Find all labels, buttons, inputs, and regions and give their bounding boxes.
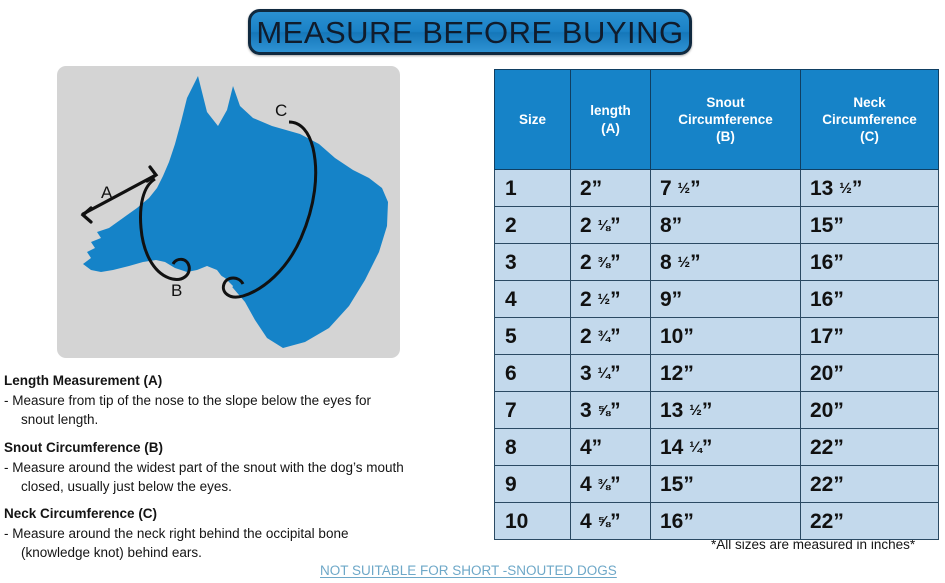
instruction-body-snout: - Measure around the widest part of the …	[4, 458, 490, 496]
label-b: B	[171, 281, 182, 300]
instruction-length-line-1: - Measure from tip of the nose to the sl…	[4, 393, 371, 408]
cell-neck: 13 ½”	[801, 170, 939, 207]
label-c: C	[275, 101, 287, 120]
table-row: 104 ⅝”16”22”	[495, 503, 939, 540]
cell-snout: 8”	[651, 207, 801, 244]
cell-length: 4 ⅝”	[571, 503, 651, 540]
cell-neck: 16”	[801, 281, 939, 318]
instruction-block-neck: Neck Circumference (C) - Measure around …	[4, 505, 490, 563]
column-header-neck-line-2: Circumference	[822, 112, 917, 127]
cell-neck: 15”	[801, 207, 939, 244]
column-header-size: Size	[495, 70, 571, 170]
cell-length: 2”	[571, 170, 651, 207]
cell-size: 3	[495, 244, 571, 281]
cell-size: 1	[495, 170, 571, 207]
cell-snout: 10”	[651, 318, 801, 355]
cell-snout: 15”	[651, 466, 801, 503]
instruction-snout-line-1: - Measure around the widest part of the …	[4, 460, 404, 475]
cell-length: 3 ¼”	[571, 355, 651, 392]
cell-length: 4 ⅜”	[571, 466, 651, 503]
table-row: 22 ⅛”8”15”	[495, 207, 939, 244]
page-title-banner: MEASURE BEFORE BUYING	[248, 9, 692, 55]
column-header-snout-line-3: (B)	[716, 129, 735, 144]
cell-length: 2 ⅛”	[571, 207, 651, 244]
cell-size: 7	[495, 392, 571, 429]
table-row: 32 ⅜”8 ½”16”	[495, 244, 939, 281]
column-header-length: length (A)	[571, 70, 651, 170]
cell-neck: 20”	[801, 355, 939, 392]
cell-length: 2 ¾”	[571, 318, 651, 355]
measurement-instructions: Length Measurement (A) - Measure from ti…	[4, 372, 490, 572]
cell-length: 4”	[571, 429, 651, 466]
cell-snout: 8 ½”	[651, 244, 801, 281]
column-header-size-label: Size	[519, 112, 546, 127]
cell-neck: 16”	[801, 244, 939, 281]
cell-snout: 14 ¼”	[651, 429, 801, 466]
cell-snout: 9”	[651, 281, 801, 318]
cell-neck: 22”	[801, 503, 939, 540]
table-row: 12”7 ½”13 ½”	[495, 170, 939, 207]
instruction-snout-line-2: closed, usually just below the eyes.	[7, 477, 490, 496]
page-title: MEASURE BEFORE BUYING	[256, 17, 683, 48]
cell-neck: 22”	[801, 429, 939, 466]
instruction-neck-line-2: (knowledge knot) behind ears.	[7, 543, 490, 562]
dog-head-measurement-diagram: A B C	[57, 66, 400, 358]
instruction-body-neck: - Measure around the neck right behind t…	[4, 524, 490, 562]
column-header-snout-line-1: Snout	[706, 95, 744, 110]
table-header-row: Size length (A) Snout Circumference (B) …	[495, 70, 939, 170]
cell-snout: 12”	[651, 355, 801, 392]
table-row: 63 ¼”12”20”	[495, 355, 939, 392]
size-chart-body: 12”7 ½”13 ½”22 ⅛”8”15”32 ⅜”8 ½”16”42 ½”9…	[495, 170, 939, 540]
instruction-heading-length: Length Measurement (A)	[4, 372, 490, 390]
cell-snout: 13 ½”	[651, 392, 801, 429]
table-row: 42 ½”9”16”	[495, 281, 939, 318]
cell-size: 2	[495, 207, 571, 244]
cell-snout: 16”	[651, 503, 801, 540]
size-chart-table: Size length (A) Snout Circumference (B) …	[494, 69, 939, 540]
cell-length: 2 ⅜”	[571, 244, 651, 281]
instruction-block-length: Length Measurement (A) - Measure from ti…	[4, 372, 490, 430]
cell-length: 3 ⅝”	[571, 392, 651, 429]
column-header-length-line-2: (A)	[601, 121, 620, 136]
cell-length: 2 ½”	[571, 281, 651, 318]
instruction-neck-line-1: - Measure around the neck right behind t…	[4, 526, 348, 541]
instruction-length-line-2: snout length.	[7, 410, 490, 429]
cell-snout: 7 ½”	[651, 170, 801, 207]
cell-size: 10	[495, 503, 571, 540]
dog-head-silhouette	[83, 76, 388, 348]
cell-size: 4	[495, 281, 571, 318]
column-header-neck: Neck Circumference (C)	[801, 70, 939, 170]
cell-size: 8	[495, 429, 571, 466]
table-row: 52 ¾”10”17”	[495, 318, 939, 355]
cell-neck: 22”	[801, 466, 939, 503]
table-row: 73 ⅝”13 ½”20”	[495, 392, 939, 429]
cell-neck: 20”	[801, 392, 939, 429]
cell-size: 9	[495, 466, 571, 503]
table-row: 84”14 ¼”22”	[495, 429, 939, 466]
cell-size: 6	[495, 355, 571, 392]
not-suitable-notice: NOT SUITABLE FOR SHORT -SNOUTED DOGS	[320, 563, 617, 578]
column-header-snout-line-2: Circumference	[678, 112, 773, 127]
instruction-body-length: - Measure from tip of the nose to the sl…	[4, 391, 490, 429]
table-row: 94 ⅜”15”22”	[495, 466, 939, 503]
column-header-neck-line-3: (C)	[860, 129, 879, 144]
column-header-length-line-1: length	[590, 103, 631, 118]
cell-size: 5	[495, 318, 571, 355]
instruction-block-snout: Snout Circumference (B) - Measure around…	[4, 439, 490, 497]
cell-neck: 17”	[801, 318, 939, 355]
column-header-snout: Snout Circumference (B)	[651, 70, 801, 170]
instruction-heading-snout: Snout Circumference (B)	[4, 439, 490, 457]
instruction-heading-neck: Neck Circumference (C)	[4, 505, 490, 523]
label-a: A	[101, 183, 113, 202]
column-header-neck-line-1: Neck	[853, 95, 885, 110]
